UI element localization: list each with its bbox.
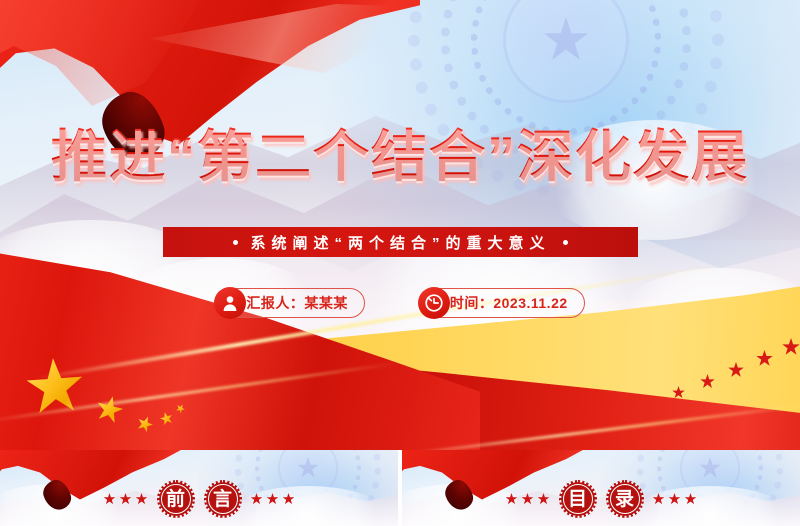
red-star-icon — [136, 493, 148, 505]
red-star-icon — [669, 493, 681, 505]
subtitle-text: 系统阐述“两个结合”的重大意义 — [250, 232, 550, 253]
subtitle-bar: 系统阐述“两个结合”的重大意义 — [163, 227, 638, 257]
slide-deck: 推进“第二个结合”深化发展 系统阐述“两个结合”的重大意义 汇报人：某某某 — [0, 0, 800, 526]
star-group-right — [251, 493, 295, 505]
seal-character: 言 — [213, 490, 232, 509]
star-group-left — [506, 493, 550, 505]
red-star-icon — [104, 493, 116, 505]
cover-slide[interactable]: 推进“第二个结合”深化发展 系统阐述“两个结合”的重大意义 汇报人：某某某 — [0, 0, 800, 450]
person-icon — [214, 287, 246, 319]
red-star-icon — [267, 493, 279, 505]
seal-character: 录 — [615, 490, 634, 509]
seal-character: 前 — [166, 490, 185, 509]
thumbnail-contents[interactable]: 目 录 — [402, 450, 800, 526]
bottom-ribbon-band — [0, 250, 800, 450]
date-label: 时间：2023.11.22 — [450, 293, 568, 313]
bullet-dot-icon — [563, 240, 568, 245]
thumbnail-preface[interactable]: 前 言 — [0, 450, 398, 526]
page-title: 推进“第二个结合”深化发展 — [0, 122, 800, 192]
meta-row: 汇报人：某某某 时间：2023.11.22 — [0, 288, 800, 318]
clock-icon — [418, 287, 450, 319]
seal-badge: 录 — [606, 480, 644, 518]
red-star-icon — [522, 493, 534, 505]
seal-badge: 前 — [157, 480, 195, 518]
date-badge[interactable]: 时间：2023.11.22 — [419, 288, 585, 318]
seal-character: 目 — [568, 490, 587, 509]
bullet-dot-icon — [233, 240, 238, 245]
star-group-right — [653, 493, 697, 505]
red-star-icon — [251, 493, 263, 505]
seal-badge: 言 — [204, 480, 242, 518]
thumbnail-heading: 前 言 — [0, 480, 398, 518]
thumbnail-strip: 前 言 目 录 — [0, 450, 800, 526]
red-star-icon — [120, 493, 132, 505]
thumbnail-heading: 目 录 — [402, 480, 800, 518]
presenter-label: 汇报人：某某某 — [246, 293, 348, 313]
red-star-icon — [506, 493, 518, 505]
presenter-badge[interactable]: 汇报人：某某某 — [215, 288, 365, 318]
red-star-icon — [283, 493, 295, 505]
title-block: 推进“第二个结合”深化发展 — [0, 122, 800, 192]
seal-badge: 目 — [559, 480, 597, 518]
red-star-icon — [685, 493, 697, 505]
star-group-left — [104, 493, 148, 505]
red-star-icon — [653, 493, 665, 505]
red-star-icon — [538, 493, 550, 505]
